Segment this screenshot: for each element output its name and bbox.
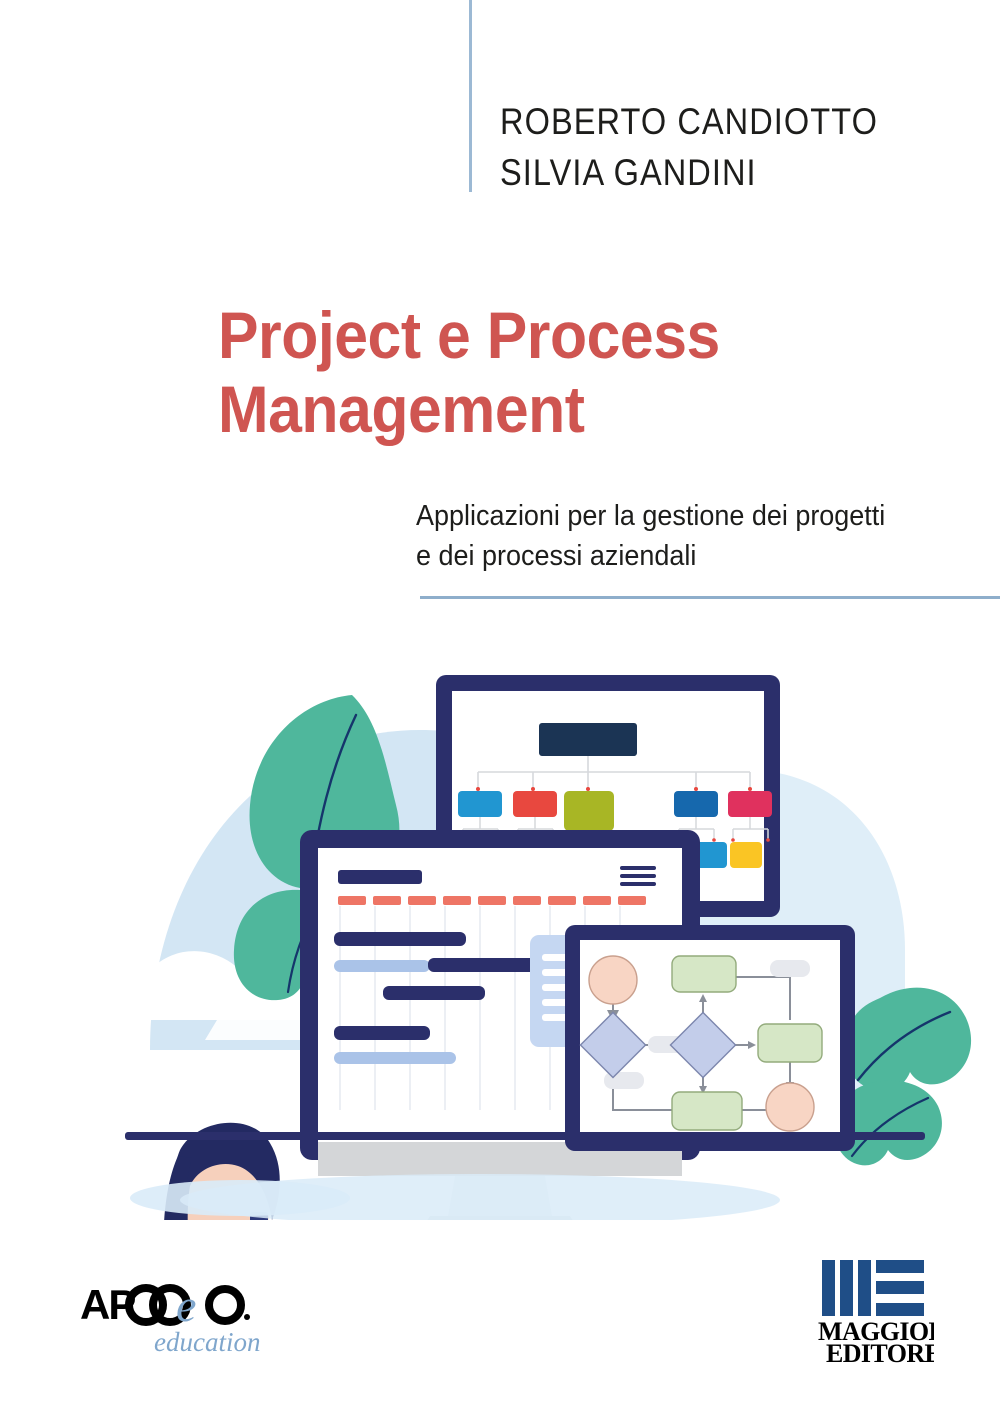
page-title: Project e Process Management: [218, 298, 978, 446]
subtitle-divider: [420, 596, 1000, 599]
flow-task-3: [672, 1092, 742, 1130]
flow-task-1: [672, 956, 736, 992]
apogeo-tagline: education: [154, 1327, 260, 1357]
subtitle-line-1: Applicazioni per la gestione dei progett…: [416, 496, 955, 536]
apogeo-wordmark: AP e: [80, 1283, 250, 1331]
hamburger-icon: [620, 866, 656, 886]
gantt-header-chips: [338, 896, 646, 905]
title-line-2: Management: [218, 372, 917, 446]
maggioli-mark: [822, 1260, 924, 1316]
apogeo-logo: AP e education: [80, 1283, 290, 1361]
book-cover: ROBERTO CANDIOTTO SILVIA GANDINI Project…: [0, 0, 1000, 1413]
subtitle-block: Applicazioni per la gestione dei progett…: [416, 496, 996, 576]
flow-start-node: [589, 956, 637, 1004]
title-line-1: Project e Process: [218, 298, 917, 372]
flow-task-2: [758, 1024, 822, 1062]
flow-end-node: [766, 1083, 814, 1131]
authors-block: ROBERTO CANDIOTTO SILVIA GANDINI: [500, 96, 980, 198]
maggioli-logo: MAGGIOLI EDITORE: [814, 1258, 934, 1364]
maggioli-name-line-2: EDITORE: [826, 1339, 934, 1364]
cover-illustration: [0, 620, 1000, 1220]
gantt-title-bar: [338, 870, 422, 884]
wbs-root-node: [539, 723, 637, 756]
screen-flowchart: [565, 925, 855, 1151]
svg-text:e: e: [176, 1283, 196, 1331]
author-name-1: ROBERTO CANDIOTTO: [500, 96, 922, 147]
subtitle-line-2: e dei processi aziendali: [416, 536, 955, 576]
top-vertical-rule: [469, 0, 472, 192]
author-name-2: SILVIA GANDINI: [500, 147, 922, 198]
